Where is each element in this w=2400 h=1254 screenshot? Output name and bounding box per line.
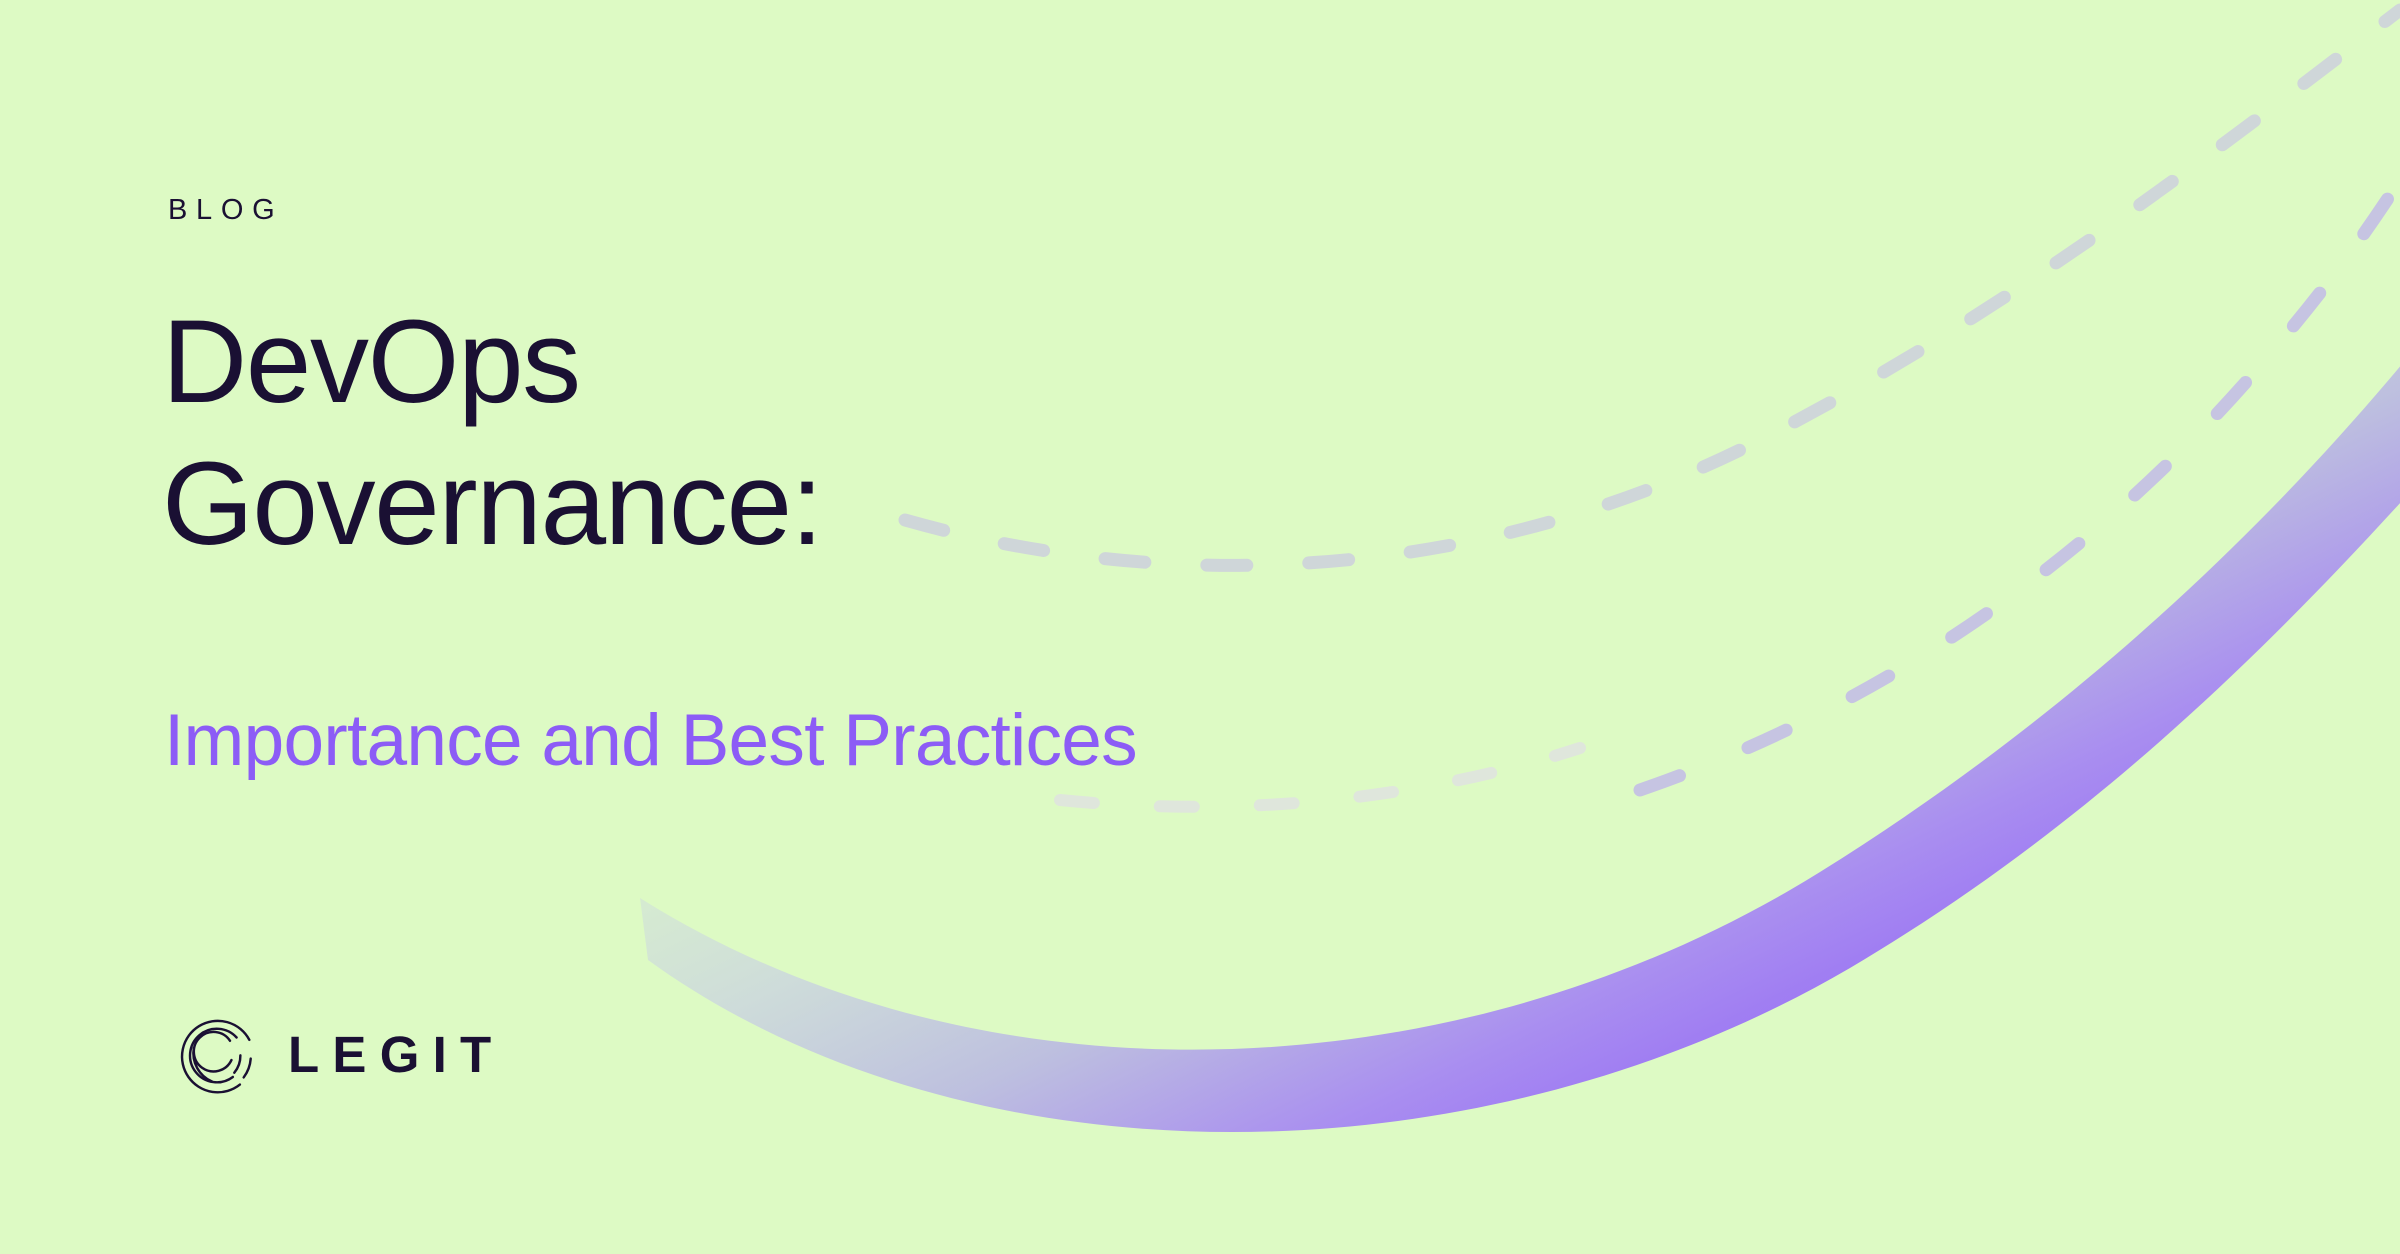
eyebrow-label: BLOG <box>168 196 283 225</box>
legit-wordmark: LEGIT <box>288 1026 504 1080</box>
legit-logomark-icon <box>168 1006 262 1100</box>
page-title: DevOps Governance: <box>162 292 822 575</box>
hero-content: BLOG DevOps Governance: Importance and B… <box>168 0 2068 1254</box>
legit-logo[interactable]: LEGIT <box>168 1006 504 1100</box>
page-title-line-2: Governance: <box>162 434 822 576</box>
page-title-line-1: DevOps <box>162 292 822 434</box>
page-subtitle: Importance and Best Practices <box>164 700 1137 782</box>
blog-hero-banner: BLOG DevOps Governance: Importance and B… <box>0 0 2400 1254</box>
